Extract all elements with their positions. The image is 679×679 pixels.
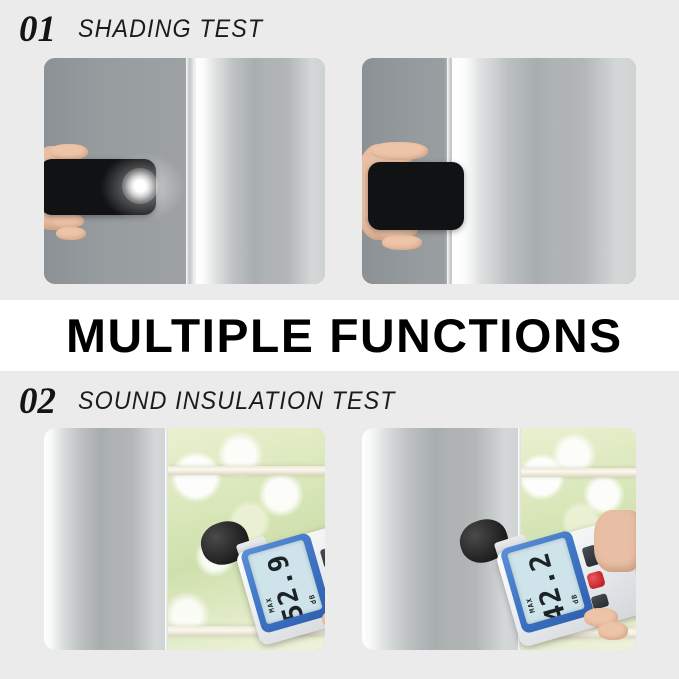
section-number: 02: [19, 383, 56, 420]
finger: [370, 142, 428, 160]
panel-shading-light-on: [44, 58, 325, 284]
banner-title: MULTIPLE FUNCTIONS: [66, 308, 623, 363]
sound-level-meter: 52.9 MAX dB: [194, 518, 325, 638]
window-mullion-horizontal: [521, 468, 636, 477]
banner: MULTIPLE FUNCTIONS: [0, 300, 679, 371]
section-number: 01: [19, 11, 56, 48]
finger: [56, 227, 86, 240]
section-title: SOUND INSULATION TEST: [78, 387, 396, 416]
section-header-01: 01 SHADING TEST: [0, 0, 679, 58]
flashlight-blocked-icon: [368, 162, 464, 230]
panel-sound-behind-curtain: 42.2 MAX dB ◎: [362, 428, 636, 650]
meter-unit: dB: [307, 593, 318, 605]
hand: [594, 510, 636, 572]
curtain-fabric: [44, 428, 168, 650]
infographic-page: 01 SHADING TEST: [0, 0, 679, 679]
curtain-edge: [165, 428, 168, 650]
flashlight-on-icon: [122, 168, 158, 204]
finger: [50, 214, 84, 228]
meter-unit: dB: [570, 593, 581, 605]
panel-sound-at-open-window: 52.9 MAX dB: [44, 428, 325, 650]
window-mullion-horizontal: [168, 466, 325, 475]
curtain-sheen: [185, 58, 326, 284]
curtain-sheen: [444, 58, 636, 284]
section-title: SHADING TEST: [78, 15, 263, 44]
finger: [382, 235, 422, 250]
finger: [50, 144, 88, 160]
sound-level-meter: 42.2 MAX dB ◎: [454, 512, 634, 640]
panel-shading-light-blocked: [362, 58, 636, 284]
finger: [598, 622, 628, 640]
section-header-02: 02 SOUND INSULATION TEST: [0, 372, 679, 430]
